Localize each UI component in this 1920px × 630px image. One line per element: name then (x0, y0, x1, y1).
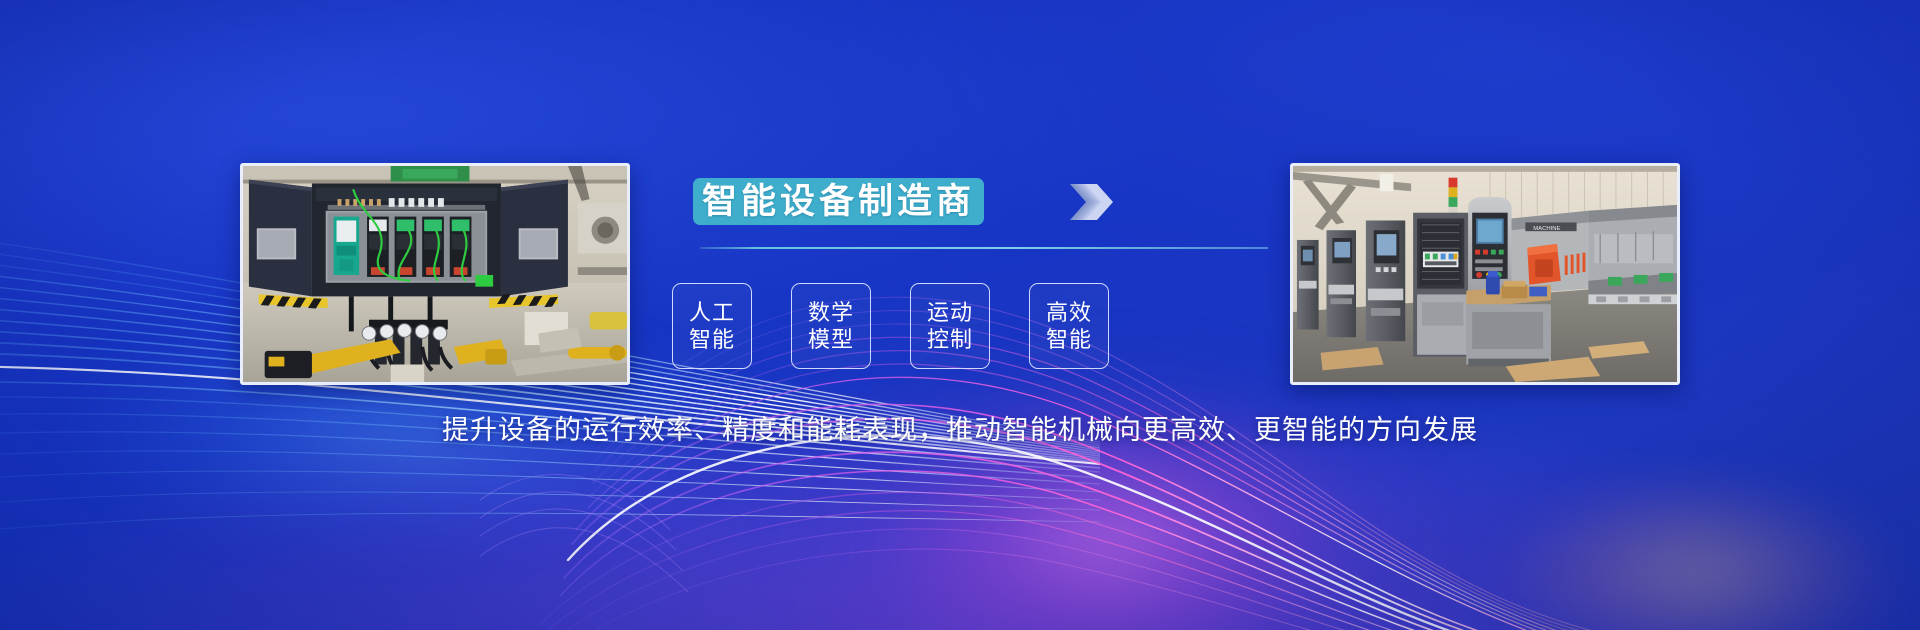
promo-banner: MACHINE (0, 0, 1920, 630)
tagline-text: 提升设备的运行效率、精度和能耗表现，推动智能机械向更高效、更智能的方向发展 (0, 408, 1920, 447)
feature-label-line2: 控制 (927, 327, 973, 352)
feature-label-line1: 人工 (689, 300, 735, 325)
svg-text:MACHINE: MACHINE (1533, 226, 1560, 232)
feature-tag-group: 人工 智能 数学 模型 运动 控制 高效 智能 (672, 283, 1109, 369)
feature-box-motion-control[interactable]: 运动 控制 (910, 283, 990, 369)
factory-machinery-line-photo: MACHINE (1290, 163, 1680, 385)
feature-label-line2: 智能 (1046, 327, 1092, 352)
feature-box-high-efficiency[interactable]: 高效 智能 (1029, 283, 1109, 369)
chevron-arrow-group (1068, 180, 1268, 224)
feature-box-math-model[interactable]: 数学 模型 (791, 283, 871, 369)
feature-label-line1: 高效 (1046, 300, 1092, 325)
banner-content: MACHINE (0, 0, 1920, 630)
feature-label-line2: 模型 (808, 327, 854, 352)
industrial-control-cabinet-photo (240, 163, 630, 385)
feature-label-line1: 数学 (808, 300, 854, 325)
feature-label-line2: 智能 (689, 327, 735, 352)
page-title: 智能设备制造商 (702, 184, 975, 219)
main-title-badge: 智能设备制造商 (693, 178, 984, 225)
feature-box-ai[interactable]: 人工 智能 (672, 283, 752, 369)
title-divider (700, 247, 1268, 249)
feature-label-line1: 运动 (927, 300, 973, 325)
